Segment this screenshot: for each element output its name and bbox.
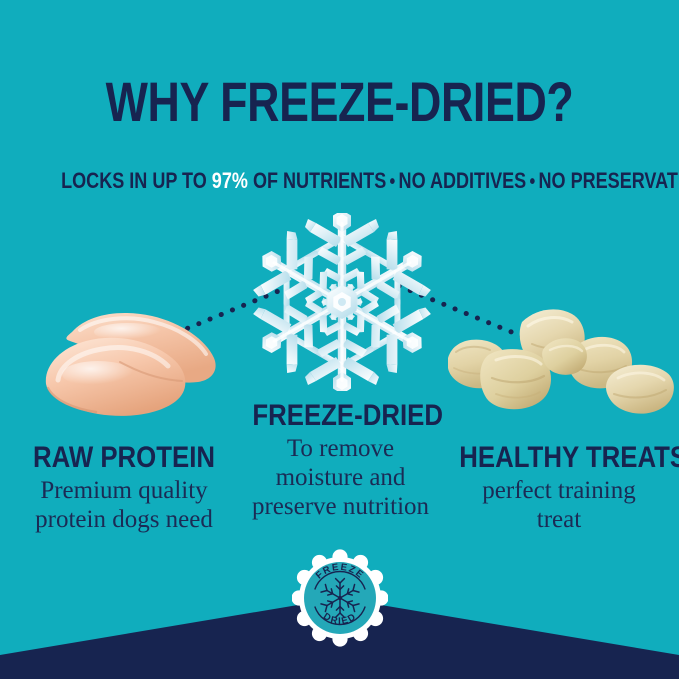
body-line: perfect training — [443, 476, 675, 505]
raw-chicken-breasts-image — [36, 296, 232, 424]
freeze-dried-treat-chunks-image — [446, 300, 674, 424]
infographic-poster: WHY FREEZE-DRIED? LOCKS IN UP TO 97% OF … — [0, 0, 679, 679]
claim-three: NO PRESERVATIVES — [539, 168, 679, 193]
column-title-freeze-dried: FREEZE-DRIED — [252, 400, 428, 432]
column-body-healthy-treats: perfect training treat — [443, 476, 675, 534]
column-raw-protein: RAW PROTEIN Premium quality protein dogs… — [8, 442, 240, 534]
bullet-separator-icon: • — [526, 171, 538, 193]
body-line: moisture and — [238, 463, 443, 492]
claim-one-suffix: OF NUTRIENTS — [248, 168, 386, 193]
claims-line: LOCKS IN UP TO 97% OF NUTRIENTS•NO ADDIT… — [61, 168, 618, 195]
freeze-dried-seal-badge: FREEZE DRIED — [292, 548, 388, 648]
column-body-freeze-dried: To remove moisture and preserve nutritio… — [238, 434, 443, 521]
body-line: Premium quality — [8, 476, 240, 505]
column-title-raw-protein: RAW PROTEIN — [24, 442, 224, 474]
column-title-healthy-treats: HEALTHY TREATS — [459, 442, 659, 474]
body-line: To remove — [238, 434, 443, 463]
column-healthy-treats: HEALTHY TREATS perfect training treat — [443, 442, 675, 534]
column-freeze-dried: FREEZE-DRIED To remove moisture and pres… — [238, 400, 443, 521]
bullet-separator-icon: • — [386, 171, 398, 193]
column-body-raw-protein: Premium quality protein dogs need — [8, 476, 240, 534]
claim-prefix: LOCKS IN UP TO — [61, 168, 212, 193]
nutrient-percent-highlight: 97% — [212, 168, 248, 193]
body-line: treat — [443, 505, 675, 534]
page-title: WHY FREEZE-DRIED? — [68, 72, 611, 132]
body-line: preserve nutrition — [238, 492, 443, 521]
snowflake-icon — [253, 213, 431, 391]
body-line: protein dogs need — [8, 505, 240, 534]
claim-two: NO ADDITIVES — [399, 168, 527, 193]
